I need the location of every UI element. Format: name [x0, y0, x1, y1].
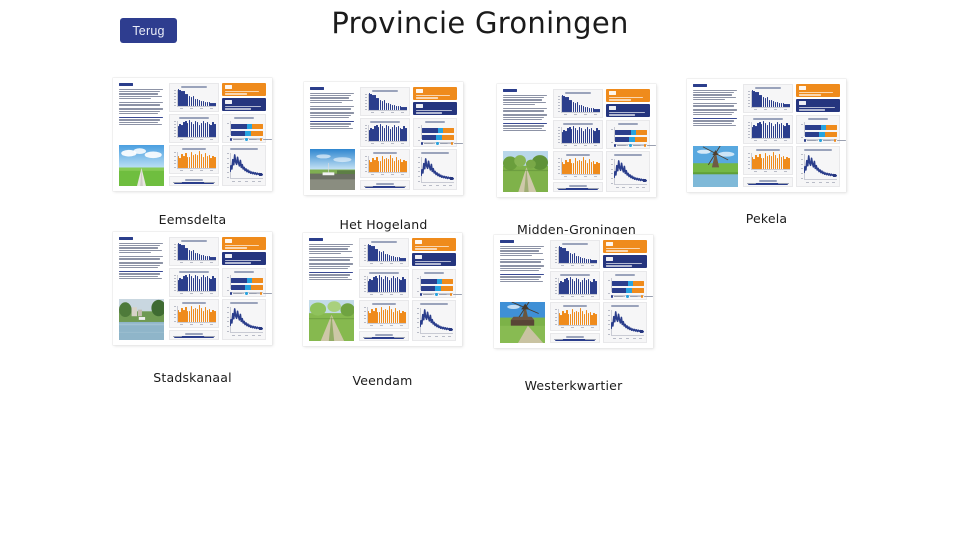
summary-bullet [310, 93, 354, 104]
summary-heading [503, 89, 517, 92]
dashboard-thumbnail[interactable] [113, 78, 272, 191]
dashboard-preview [497, 84, 656, 197]
chart-panel-line [412, 300, 456, 341]
page-title: Provincie Groningen [0, 6, 960, 40]
dashboard-thumbnail[interactable] [497, 84, 656, 197]
chart-panel-banen [553, 120, 603, 149]
chart-legend [230, 138, 272, 140]
summary-text-column [119, 83, 163, 141]
summary-heading [310, 87, 324, 90]
chart-panel-bevolking [360, 87, 410, 116]
progress-strip [359, 331, 409, 341]
summary-bullet [310, 106, 354, 110]
bar-chart-blue-top [368, 244, 406, 261]
line-chart-endpoint-marker [259, 327, 262, 330]
bar-chart-blue-top [559, 246, 597, 263]
bar-chart-blue-middle [368, 275, 406, 292]
summary-text-column [309, 238, 353, 296]
summary-bullet [693, 90, 737, 101]
chart-panel-banen [169, 268, 219, 297]
summary-bullet [500, 274, 544, 282]
bar-chart-orange [752, 152, 790, 169]
line-chart-endpoint-marker [833, 174, 836, 177]
bar-chart-blue-middle [369, 124, 407, 141]
line-chart-endpoint-marker [450, 177, 453, 180]
municipality-card[interactable]: Pekela [687, 79, 846, 192]
summary-text-column [119, 237, 163, 295]
bar-chart-blue-middle [178, 274, 216, 291]
municipality-photo [500, 302, 545, 343]
municipality-photo [693, 146, 738, 187]
chart-panel-banen [359, 269, 409, 298]
progress-strip [360, 180, 410, 190]
summary-heading [500, 240, 514, 243]
gallery-row: Eemsdelta [0, 72, 960, 222]
summary-bullet [119, 271, 163, 279]
stacked-bar-row [422, 128, 455, 133]
stacked-bar-row [615, 130, 648, 135]
stacked-bar-row [231, 124, 264, 129]
kpi-card-navy [606, 104, 650, 117]
dashboard-thumbnail[interactable] [113, 232, 272, 345]
stacked-bar-row [231, 285, 264, 290]
kpi-card-orange [606, 89, 650, 102]
summary-bullet [119, 262, 163, 268]
chart-panel-line [222, 299, 266, 340]
bar-chart-orange [178, 151, 216, 168]
municipality-card[interactable]: Het Hogeland [304, 82, 463, 195]
chart-panel-line [606, 151, 650, 192]
summary-bullet [119, 256, 163, 260]
chart-panel-banen [550, 271, 600, 300]
summary-bullet [119, 102, 163, 106]
dashboard-thumbnail[interactable] [304, 82, 463, 195]
kpi-card-orange [222, 237, 266, 250]
bar-chart-orange [559, 308, 597, 325]
summary-bullet [119, 243, 163, 254]
bar-chart-orange [562, 157, 600, 174]
summary-bullet [693, 109, 737, 115]
chart-panel-orange [169, 299, 219, 328]
stacked-bar-row [231, 131, 264, 136]
kpi-card-orange [603, 240, 647, 253]
chart-panel-stacked-bars [606, 120, 650, 149]
line-chart-endpoint-marker [259, 173, 262, 176]
bar-chart-orange [368, 306, 406, 323]
summary-bullet [503, 95, 547, 106]
chart-panel-stacked-bars [413, 118, 457, 147]
chart-panel-orange [359, 300, 409, 329]
summary-heading [119, 237, 133, 240]
kpi-card-orange [413, 87, 457, 100]
municipality-card[interactable]: Midden-Groningen [497, 84, 656, 197]
chart-panel-bevolking [743, 84, 793, 113]
bar-chart-blue-middle [178, 120, 216, 137]
summary-bullet [500, 246, 544, 257]
chart-panel-banen [169, 114, 219, 143]
dashboard-thumbnail[interactable] [687, 79, 846, 192]
stacked-bar-row [612, 288, 645, 293]
dashboard-preview [113, 78, 272, 191]
chart-panel-banen [360, 118, 410, 147]
dashboard-thumbnail[interactable] [303, 233, 462, 346]
progress-strip [169, 330, 219, 340]
progress-strip [743, 177, 793, 187]
chart-panel-orange [169, 145, 219, 174]
municipality-photo [503, 151, 548, 192]
kpi-card-orange [796, 84, 840, 97]
summary-bullet [310, 112, 354, 118]
bar-chart-orange [178, 305, 216, 322]
stacked-bar-row [422, 135, 455, 140]
chart-panel-stacked-bars [222, 114, 266, 143]
summary-bullet [503, 114, 547, 120]
stacked-bar-row [615, 137, 648, 142]
summary-bullet [309, 272, 353, 280]
summary-bullet [500, 259, 544, 263]
summary-bullet [119, 89, 163, 100]
chart-panel-stacked-bars [412, 269, 456, 298]
chart-panel-orange [360, 149, 410, 178]
stacked-bar-row [421, 286, 454, 291]
dashboard-preview [687, 79, 846, 192]
municipality-label: Veendam [303, 373, 462, 388]
dashboard-preview [494, 235, 653, 348]
chart-legend [611, 295, 653, 297]
line-chart-endpoint-marker [643, 179, 646, 182]
stacked-bar-row [612, 281, 645, 286]
summary-text-column [693, 84, 737, 142]
kpi-card-navy [412, 253, 456, 266]
summary-text-column [310, 87, 354, 145]
chart-legend [421, 142, 463, 144]
municipality-card[interactable]: Stadskanaal [113, 232, 272, 345]
kpi-card-orange [412, 238, 456, 251]
municipality-photo [119, 145, 164, 186]
chart-panel-stacked-bars [222, 268, 266, 297]
stacked-bar-row [805, 125, 838, 130]
dashboard-preview [303, 233, 462, 346]
chart-panel-bevolking [553, 89, 603, 118]
kpi-card-orange [222, 83, 266, 96]
stacked-bar-row [231, 278, 264, 283]
progress-strip [550, 333, 600, 343]
chart-panel-line [603, 302, 647, 343]
summary-heading [309, 238, 323, 241]
chart-panel-line [413, 149, 457, 190]
summary-bullet [310, 121, 354, 129]
chart-panel-banen [743, 115, 793, 144]
summary-bullet [503, 123, 547, 131]
bar-chart-blue-middle [562, 126, 600, 143]
summary-text-column [500, 240, 544, 298]
municipality-photo [119, 299, 164, 340]
chart-panel-orange [550, 302, 600, 331]
summary-bullet [119, 117, 163, 125]
summary-bullet [119, 108, 163, 114]
dashboard-thumbnail[interactable] [494, 235, 653, 348]
chart-panel-stacked-bars [603, 271, 647, 300]
summary-text-column [503, 89, 547, 147]
kpi-card-navy [222, 98, 266, 111]
municipality-photo [310, 149, 355, 190]
chart-legend [230, 292, 272, 294]
line-chart-endpoint-marker [640, 330, 643, 333]
bar-chart-blue-top [562, 95, 600, 112]
progress-strip [553, 182, 603, 192]
municipality-label: Stadskanaal [113, 370, 272, 385]
summary-bullet [309, 244, 353, 255]
dashboard-preview [304, 82, 463, 195]
progress-strip [169, 176, 219, 186]
gallery-row: Stadskanaal [0, 222, 960, 372]
chart-panel-line [222, 145, 266, 186]
bar-chart-orange [369, 155, 407, 172]
chart-legend [420, 293, 462, 295]
summary-bullet [693, 103, 737, 107]
chart-legend [614, 144, 656, 146]
chart-panel-bevolking [169, 237, 219, 266]
chart-panel-orange [553, 151, 603, 180]
bar-chart-blue-top [369, 93, 407, 110]
kpi-card-navy [413, 102, 457, 115]
line-chart-endpoint-marker [449, 328, 452, 331]
bar-chart-blue-top [178, 89, 216, 106]
kpi-card-navy [796, 99, 840, 112]
dashboard-preview [113, 232, 272, 345]
municipality-card[interactable]: Westerkwartier [494, 235, 653, 348]
chart-panel-bevolking [550, 240, 600, 269]
kpi-card-navy [222, 252, 266, 265]
summary-bullet [693, 118, 737, 126]
chart-panel-orange [743, 146, 793, 175]
bar-chart-blue-top [752, 90, 790, 107]
summary-bullet [309, 257, 353, 261]
bar-chart-blue-middle [752, 121, 790, 138]
bar-chart-blue-middle [559, 277, 597, 294]
stacked-bar-row [421, 279, 454, 284]
stacked-bar-row [805, 132, 838, 137]
bar-chart-blue-top [178, 243, 216, 260]
summary-bullet [503, 108, 547, 112]
summary-bullet [309, 263, 353, 269]
summary-bullet [500, 265, 544, 271]
municipality-card[interactable]: Veendam [303, 233, 462, 346]
chart-legend [804, 139, 846, 141]
chart-panel-bevolking [359, 238, 409, 267]
chart-panel-bevolking [169, 83, 219, 112]
summary-heading [119, 83, 133, 86]
kpi-card-navy [603, 255, 647, 268]
summary-heading [693, 84, 707, 87]
municipality-label: Westerkwartier [494, 378, 653, 393]
municipality-card[interactable]: Eemsdelta [113, 78, 272, 191]
province-gallery: Eemsdelta [0, 72, 960, 372]
chart-panel-stacked-bars [796, 115, 840, 144]
municipality-photo [309, 300, 354, 341]
chart-panel-line [796, 146, 840, 187]
